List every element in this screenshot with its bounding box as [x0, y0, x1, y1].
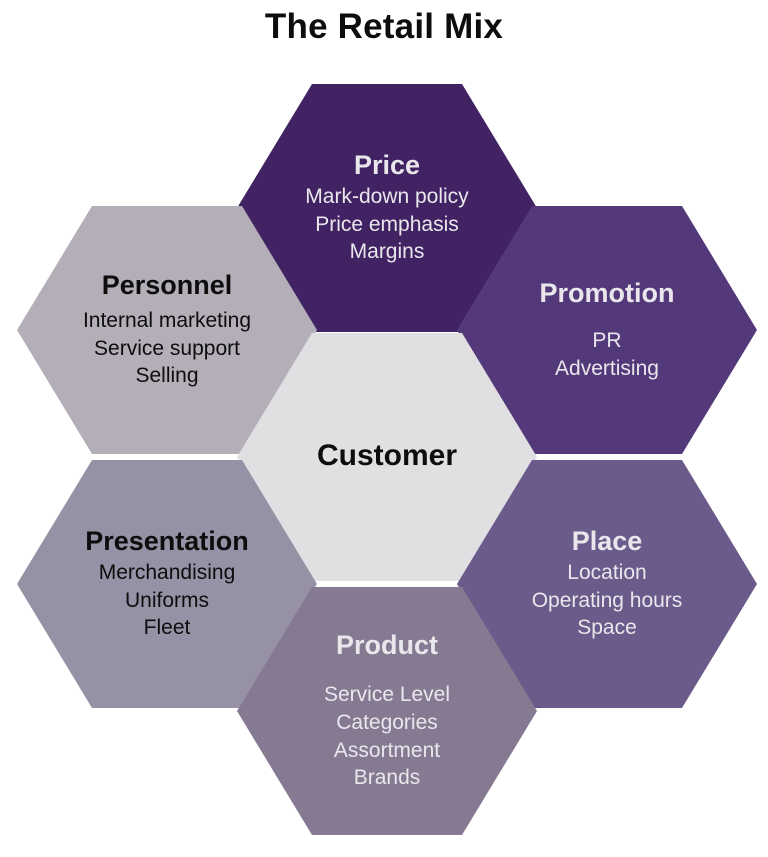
hexagon-product-title: Product [336, 630, 438, 661]
hexagon-item: Price emphasis [305, 211, 468, 239]
hexagon-item: Mark-down policy [305, 183, 468, 211]
hexagon-item: Fleet [99, 614, 236, 642]
hexagon-item: Categories [324, 709, 450, 737]
hexagon-presentation-title: Presentation [85, 526, 249, 557]
hexagon-presentation-items: MerchandisingUniformsFleet [99, 559, 236, 642]
hexagon-item: Service support [83, 335, 251, 363]
hexagon-place-items: LocationOperating hoursSpace [532, 559, 683, 642]
retail-mix-diagram: The Retail Mix Price Mark-down policyPri… [0, 0, 768, 857]
hexagon-item: Brands [324, 764, 450, 792]
hexagon-item: Operating hours [532, 587, 683, 615]
hexagon-price-items: Mark-down policyPrice emphasisMargins [305, 183, 468, 266]
hexagon-promotion-items: PRAdvertising [555, 327, 659, 382]
hexagon-item: Margins [305, 238, 468, 266]
hexagon-promotion-title: Promotion [540, 278, 675, 309]
hexagon-item: Uniforms [99, 587, 236, 615]
hexagon-item: Space [532, 614, 683, 642]
hexagon-customer-title: Customer [317, 439, 457, 474]
hexagon-item: Internal marketing [83, 307, 251, 335]
hexagon-product-items: Service LevelCategoriesAssortmentBrands [324, 681, 450, 792]
diagram-title: The Retail Mix [0, 6, 768, 48]
hexagon-item: PR [555, 327, 659, 355]
hexagon-item: Assortment [324, 737, 450, 765]
hexagon-item: Advertising [555, 355, 659, 383]
hexagon-item: Location [532, 559, 683, 587]
hexagon-place-title: Place [572, 526, 643, 557]
hexagon-personnel-items: Internal marketingService supportSelling [83, 307, 251, 390]
hexagon-personnel-title: Personnel [102, 270, 233, 301]
hexagon-item: Merchandising [99, 559, 236, 587]
hexagon-item: Service Level [324, 681, 450, 709]
hexagon-price-title: Price [354, 150, 420, 181]
hexagon-item: Selling [83, 362, 251, 390]
